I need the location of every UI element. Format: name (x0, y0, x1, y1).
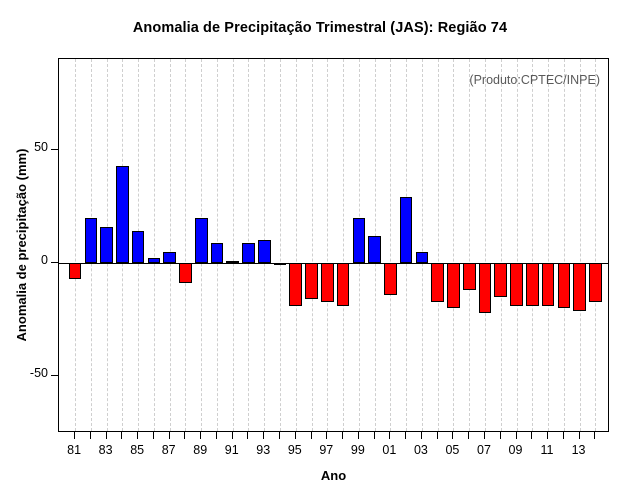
bar-05 (447, 263, 460, 308)
bar-10 (526, 263, 539, 306)
x-tick-mark (326, 432, 327, 439)
x-tick-label: 13 (564, 443, 594, 457)
gridline (170, 59, 171, 431)
x-tick-label: 11 (532, 443, 562, 457)
chart-figure: Anomalia de Precipitação Trimestral (JAS… (0, 0, 640, 500)
x-tick-mark (295, 432, 296, 439)
x-tick-label: 81 (59, 443, 89, 457)
bar-95 (289, 263, 302, 306)
x-tick-label: 07 (469, 443, 499, 457)
gridline (532, 59, 533, 431)
bar-02 (400, 197, 413, 263)
bar-93 (258, 240, 271, 263)
x-tick-mark (516, 432, 517, 439)
x-tick-label: 87 (154, 443, 184, 457)
bar-85 (132, 231, 145, 263)
x-tick-mark (263, 432, 264, 439)
bar-98 (337, 263, 350, 306)
bar-87 (163, 252, 176, 263)
bar-13 (573, 263, 586, 311)
gridline (501, 59, 502, 431)
bar-00 (368, 236, 381, 263)
gridline (75, 59, 76, 431)
x-tick-mark (184, 432, 185, 439)
gridline (327, 59, 328, 431)
x-tick-label: 89 (185, 443, 215, 457)
x-tick-mark (389, 432, 390, 439)
bar-03 (416, 252, 429, 263)
bar-01 (384, 263, 397, 295)
gridline (390, 59, 391, 431)
x-tick-mark (200, 432, 201, 439)
bar-08 (494, 263, 507, 297)
x-tick-mark (421, 432, 422, 439)
x-tick-mark (232, 432, 233, 439)
gridline (517, 59, 518, 431)
bar-97 (321, 263, 334, 302)
bar-84 (116, 166, 129, 263)
x-tick-mark (531, 432, 532, 439)
x-tick-mark (169, 432, 170, 439)
x-tick-label: 83 (91, 443, 121, 457)
x-tick-mark (311, 432, 312, 439)
gridline (154, 59, 155, 431)
x-tick-label: 99 (343, 443, 373, 457)
x-tick-mark (563, 432, 564, 439)
x-tick-mark (437, 432, 438, 439)
x-tick-label: 95 (280, 443, 310, 457)
gridline (280, 59, 281, 431)
x-tick-mark (90, 432, 91, 439)
y-tick-mark (51, 375, 58, 376)
gridline (343, 59, 344, 431)
bar-92 (242, 243, 255, 263)
x-tick-mark (342, 432, 343, 439)
x-tick-mark (405, 432, 406, 439)
bar-96 (305, 263, 318, 299)
zero-baseline (59, 263, 608, 264)
x-tick-mark (247, 432, 248, 439)
gridline (233, 59, 234, 431)
plot-area: (Produto:CPTEC/INPE) (58, 58, 609, 432)
gridline (580, 59, 581, 431)
bar-99 (353, 218, 366, 263)
x-tick-mark (547, 432, 548, 439)
x-tick-mark (121, 432, 122, 439)
x-tick-label: 09 (501, 443, 531, 457)
x-tick-mark (468, 432, 469, 439)
bar-81 (69, 263, 82, 279)
x-tick-mark (279, 432, 280, 439)
x-tick-label: 97 (311, 443, 341, 457)
bar-83 (100, 227, 113, 263)
chart-title: Anomalia de Precipitação Trimestral (JAS… (0, 20, 640, 36)
gridline (469, 59, 470, 431)
source-annotation: (Produto:CPTEC/INPE) (469, 73, 600, 87)
x-tick-label: 05 (437, 443, 467, 457)
bar-14 (589, 263, 602, 302)
gridline (485, 59, 486, 431)
gridline (438, 59, 439, 431)
bar-89 (195, 218, 208, 263)
x-tick-mark (452, 432, 453, 439)
y-tick-mark (51, 149, 58, 150)
y-tick-label: 0 (8, 253, 48, 267)
x-tick-label: 91 (217, 443, 247, 457)
x-tick-mark (594, 432, 595, 439)
y-tick-label: 50 (8, 140, 48, 154)
x-tick-mark (579, 432, 580, 439)
y-tick-mark (51, 262, 58, 263)
bar-07 (479, 263, 492, 313)
gridline (453, 59, 454, 431)
bar-09 (510, 263, 523, 306)
gridline (312, 59, 313, 431)
bar-90 (211, 243, 224, 263)
gridline (564, 59, 565, 431)
x-tick-mark (484, 432, 485, 439)
bar-82 (85, 218, 98, 263)
gridline (595, 59, 596, 431)
gridline (185, 59, 186, 431)
x-tick-mark (106, 432, 107, 439)
bar-06 (463, 263, 476, 290)
x-axis-label: Ano (58, 468, 609, 483)
x-tick-mark (500, 432, 501, 439)
x-tick-mark (374, 432, 375, 439)
x-tick-mark (358, 432, 359, 439)
gridline (548, 59, 549, 431)
bar-88 (179, 263, 192, 283)
x-tick-mark (74, 432, 75, 439)
gridline (422, 59, 423, 431)
x-tick-label: 93 (248, 443, 278, 457)
y-tick-label: -50 (8, 366, 48, 380)
x-tick-mark (216, 432, 217, 439)
x-tick-label: 03 (406, 443, 436, 457)
bar-04 (431, 263, 444, 302)
bar-12 (558, 263, 571, 308)
x-tick-label: 01 (374, 443, 404, 457)
x-tick-mark (137, 432, 138, 439)
gridline (296, 59, 297, 431)
x-tick-mark (153, 432, 154, 439)
bar-11 (542, 263, 555, 306)
x-tick-label: 85 (122, 443, 152, 457)
